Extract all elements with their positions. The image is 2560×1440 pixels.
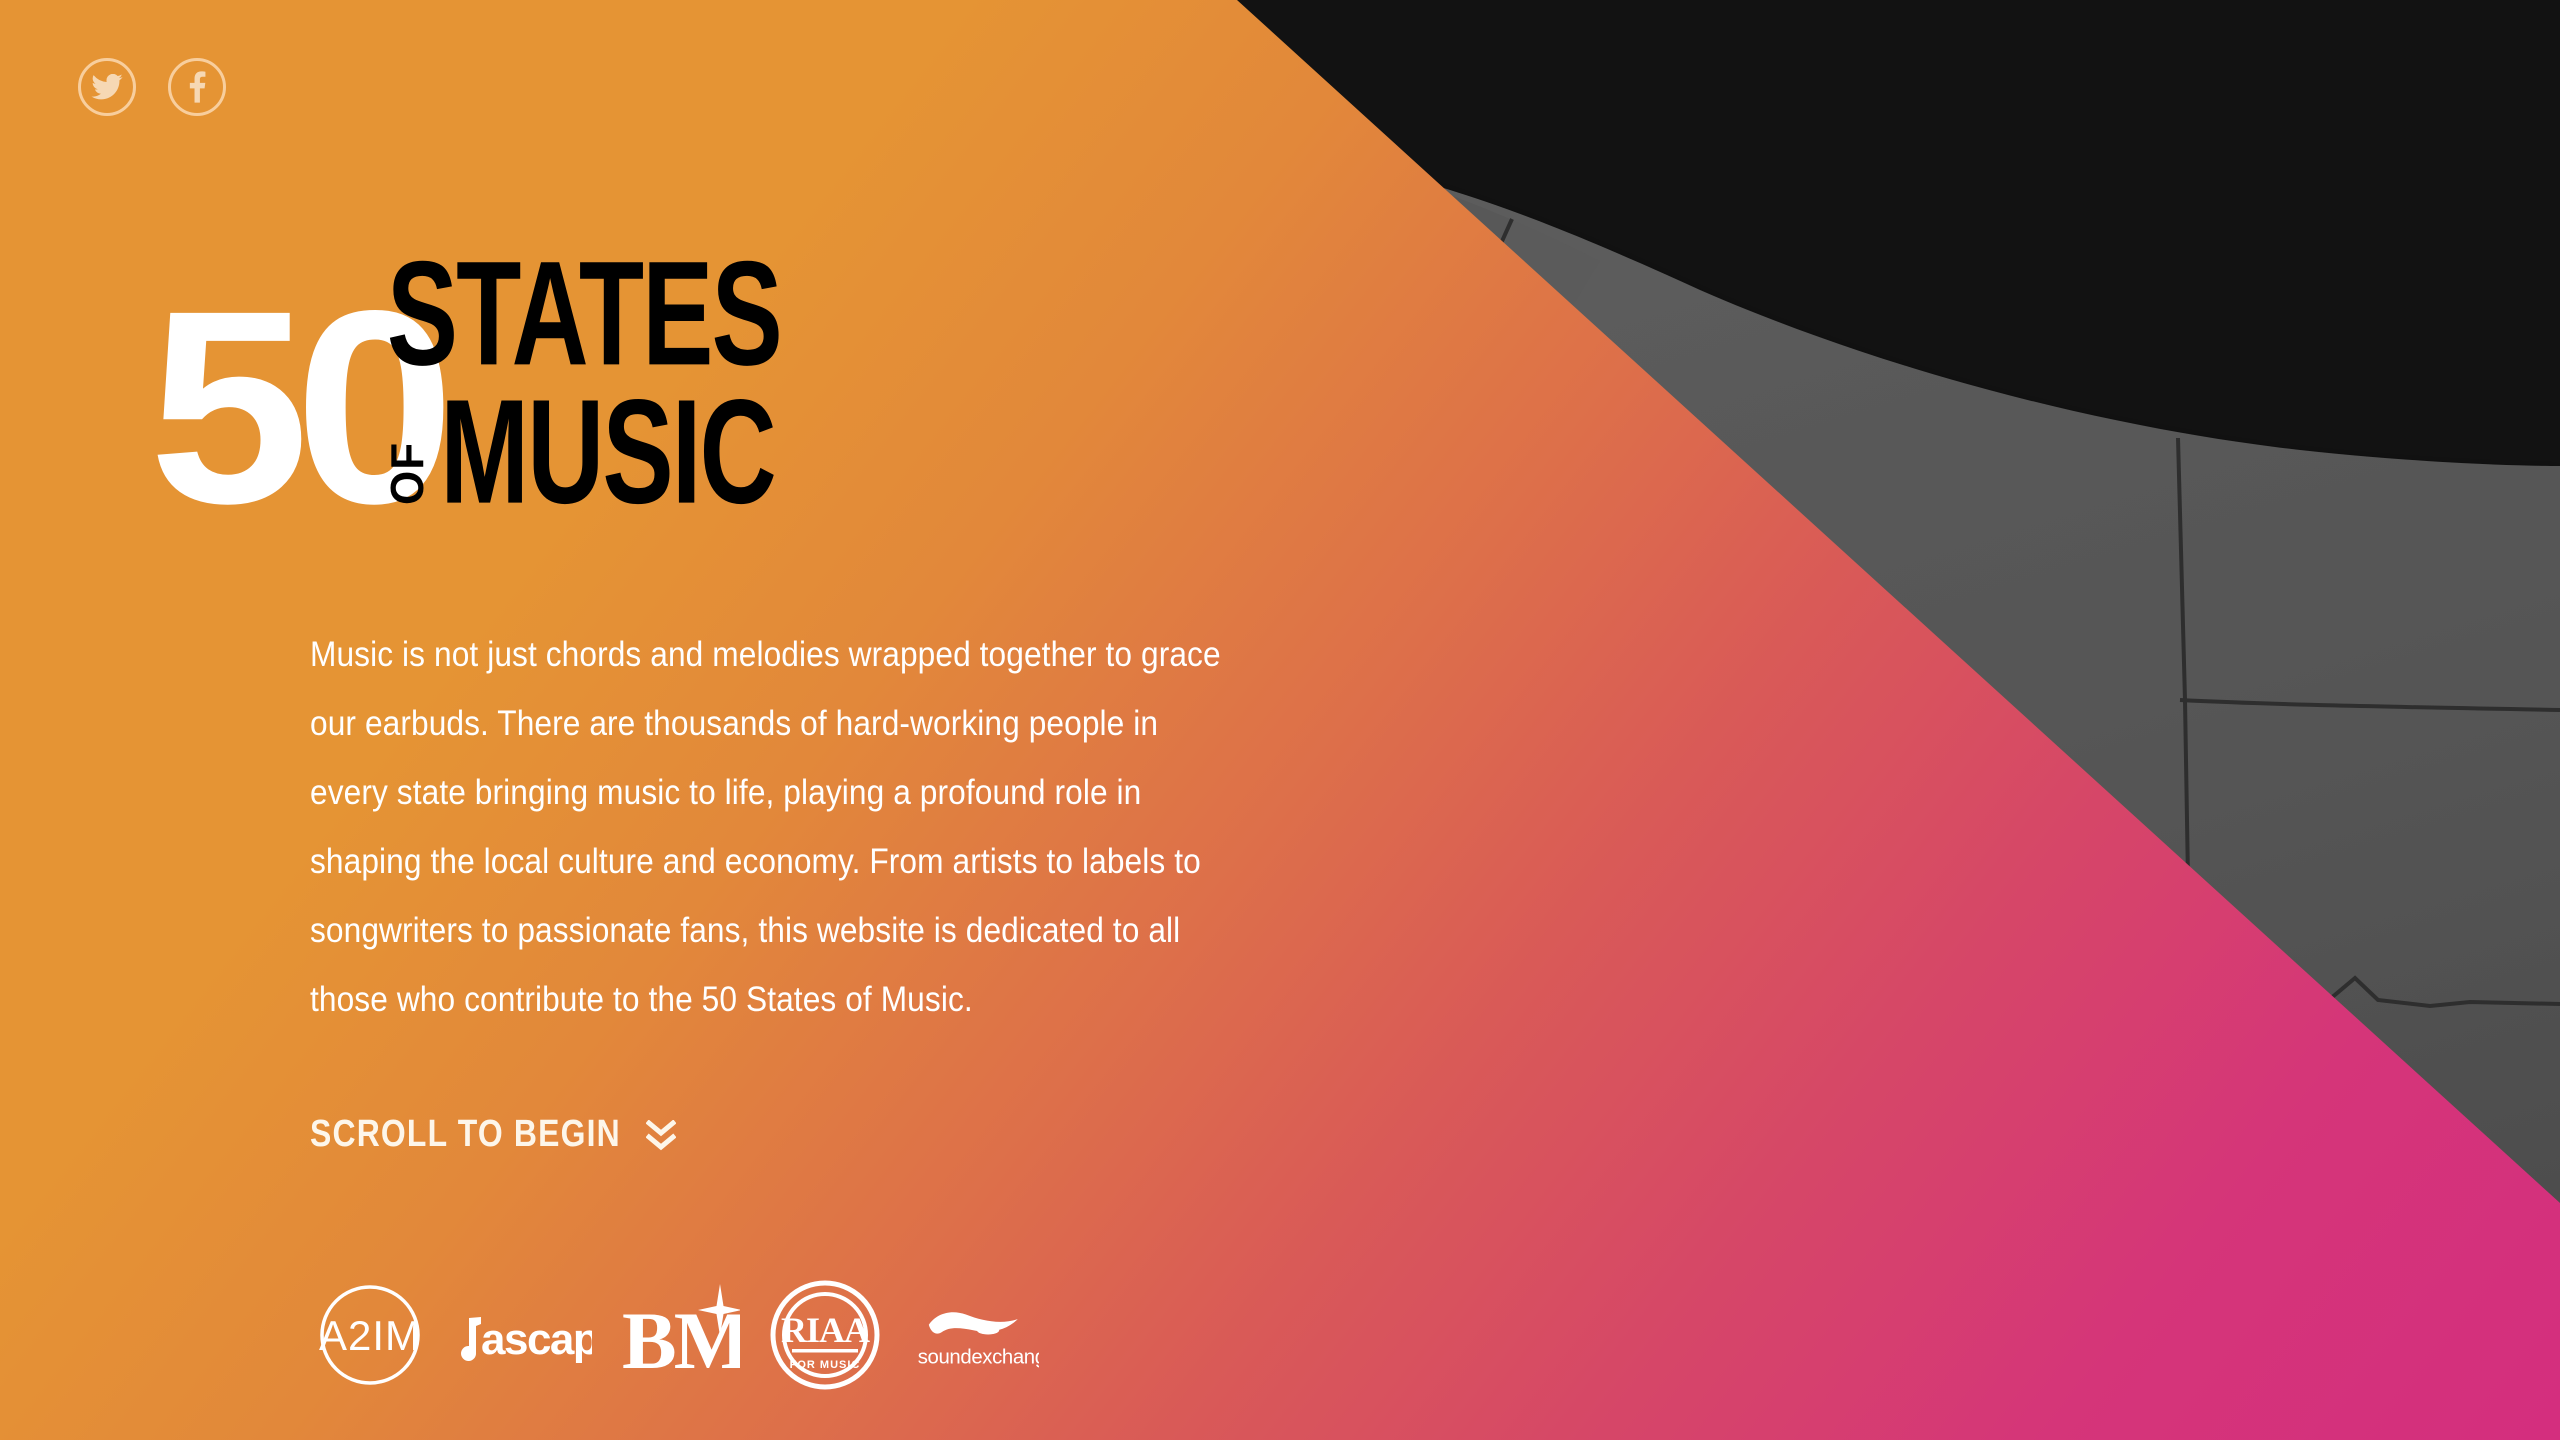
riaa-icon: RIAA FOR MUSIC: [770, 1280, 880, 1390]
logo-word-music: MUSIC: [440, 369, 775, 534]
scroll-to-begin-button[interactable]: SCROLL TO BEGIN: [310, 1113, 676, 1156]
partner-logo-soundexchange[interactable]: soundexchange soundexchange: [914, 1280, 1039, 1390]
scroll-to-begin-label: SCROLL TO BEGIN: [310, 1113, 621, 1156]
twitter-icon: [91, 74, 123, 100]
svg-text:RIAA: RIAA: [781, 1310, 870, 1350]
partner-logo-bmi[interactable]: BMI BMI: [620, 1280, 740, 1390]
site-logo: 50 STATES OF MUSIC: [155, 262, 1035, 512]
riaa-sublabel: FOR MUSIC: [790, 1359, 861, 1371]
a2im-icon: A2IM: [305, 1280, 435, 1390]
landing-page: Twitter Facebook 50 STATES OF: [0, 0, 2560, 1440]
bmi-icon: BMI: [620, 1280, 740, 1390]
svg-text:ascap: ascap: [481, 1315, 592, 1364]
social-link-twitter[interactable]: Twitter: [78, 58, 136, 116]
partner-logo-a2im[interactable]: A2IM A2IM: [305, 1280, 435, 1390]
facebook-icon: [189, 71, 206, 103]
svg-text:soundexchange: soundexchange: [918, 1347, 1039, 1369]
chevron-double-down-icon: [646, 1120, 676, 1154]
hero-content: Twitter Facebook 50 STATES OF: [0, 0, 1300, 1440]
svg-text:A2IM: A2IM: [319, 1312, 421, 1359]
logo-artwork: 50 STATES OF MUSIC: [155, 262, 1035, 512]
partner-logos: A2IM A2IM ascap ascap BMI: [305, 1280, 1039, 1390]
soundexchange-icon: soundexchange: [914, 1284, 1039, 1386]
social-links: Twitter Facebook: [78, 58, 226, 116]
partner-logo-riaa[interactable]: RIAA RIAA FOR MUSIC: [770, 1280, 880, 1390]
ascap-icon: ascap: [457, 1280, 592, 1390]
social-link-facebook[interactable]: Facebook: [168, 58, 226, 116]
partner-logo-ascap[interactable]: ascap ascap: [457, 1280, 592, 1390]
logo-word-of: OF: [381, 442, 433, 505]
intro-paragraph: Music is not just chords and melodies wr…: [310, 620, 1224, 1034]
